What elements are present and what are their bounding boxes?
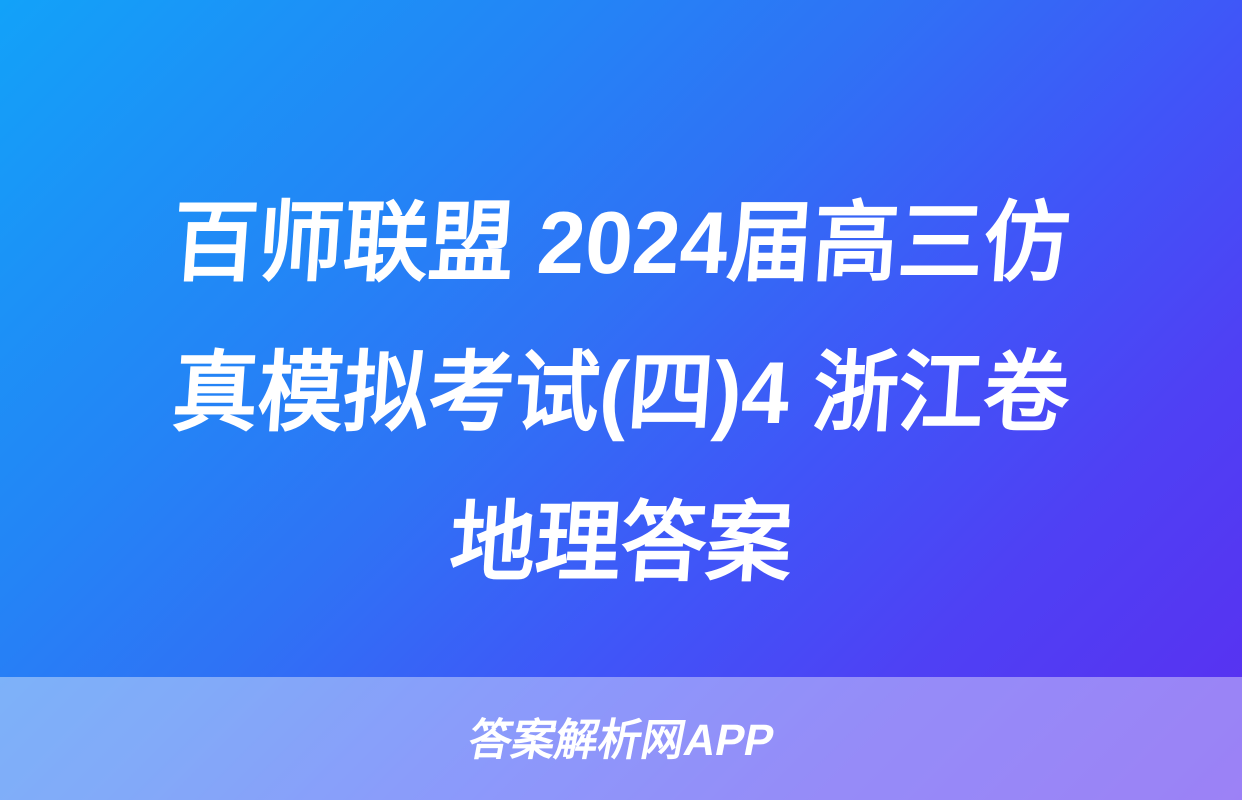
page-title: 百师联盟 2024届高三仿 真模拟考试(四)4 浙江卷 地理答案 xyxy=(0,168,1242,618)
app-watermark-label: 答案解析网APP xyxy=(464,716,778,766)
title-line-2: 真模拟考试(四)4 浙江卷 xyxy=(72,318,1171,468)
title-line-3: 地理答案 xyxy=(72,468,1171,618)
poster-canvas: 百师联盟 2024届高三仿 真模拟考试(四)4 浙江卷 地理答案 答案解析网AP… xyxy=(0,0,1242,800)
title-line-1: 百师联盟 2024届高三仿 xyxy=(72,168,1171,318)
footer-banner: 答案解析网APP xyxy=(0,677,1242,800)
